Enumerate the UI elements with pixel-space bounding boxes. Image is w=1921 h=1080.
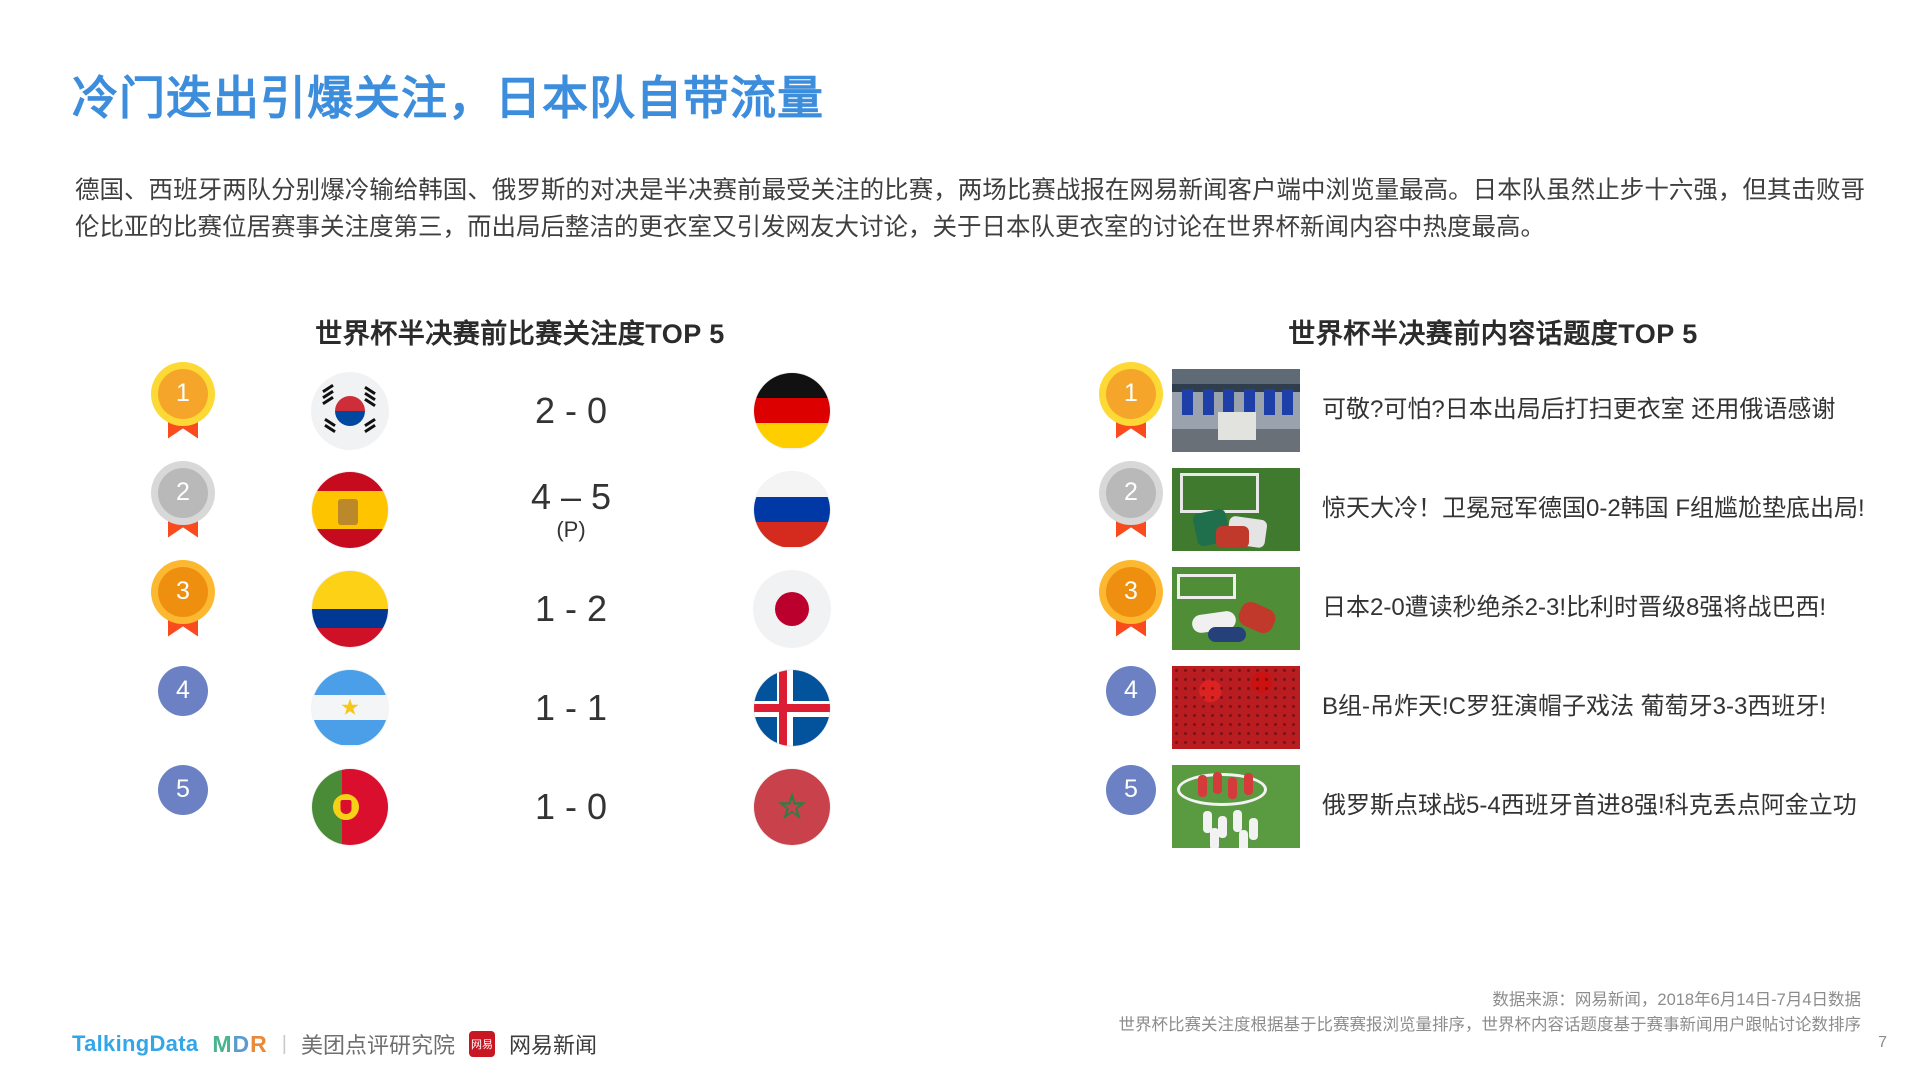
table-row[interactable]: 2 4 – 5 (P) bbox=[150, 460, 890, 559]
match-score: 1 - 0 bbox=[388, 787, 754, 827]
topics-panel-title: 世界杯半决赛前内容话题度TOP 5 bbox=[1098, 312, 1888, 351]
rank-badge-5: 5 bbox=[1098, 765, 1164, 849]
match-score: 2 - 0 bbox=[388, 391, 754, 431]
table-row[interactable]: 5 1 - 0 bbox=[150, 757, 890, 856]
rank-badge-1: 1 bbox=[150, 369, 216, 453]
footer-logos: TalkingData MDR | 美团点评研究院 网易 网易新闻 bbox=[72, 1028, 597, 1060]
rank-number: 3 bbox=[158, 567, 208, 617]
rank-badge-3: 3 bbox=[1098, 567, 1164, 651]
topic-title: 惊天大冷！卫冕冠军德国0-2韩国 F组尴尬垫底出局! bbox=[1322, 492, 1888, 526]
match-score: 4 – 5 (P) bbox=[388, 477, 754, 543]
rank-badge-4: 4 bbox=[150, 666, 216, 750]
mdr-logo: MDR bbox=[212, 1031, 267, 1058]
rank-number: 3 bbox=[1106, 567, 1156, 617]
list-item[interactable]: 1 可敬?可怕?日本出局后打扫更衣室 还用俄语感谢 bbox=[1098, 361, 1888, 460]
flag-icon-ma bbox=[754, 769, 830, 845]
source-note: 数据来源：网易新闻，2018年6月14日-7月4日数据 世界杯比赛关注度根据基于… bbox=[1119, 988, 1862, 1038]
flag-icon-jp bbox=[754, 571, 830, 647]
pentagram-symbol bbox=[777, 792, 807, 822]
thumbnail-image-goalmouth bbox=[1172, 468, 1300, 551]
talkingdata-logo: TalkingData bbox=[72, 1031, 198, 1057]
flag-icon-is bbox=[754, 670, 830, 746]
thumbnail-image-locker-room bbox=[1172, 369, 1300, 452]
rank-badge-5: 5 bbox=[150, 765, 216, 849]
table-row[interactable]: 3 1 - 2 bbox=[150, 559, 890, 658]
rank-badge-3: 3 bbox=[150, 567, 216, 651]
matches-panel: 世界杯半决赛前比赛关注度TOP 5 1 2 - bbox=[150, 312, 890, 856]
match-score: 1 - 2 bbox=[388, 589, 754, 629]
logo-separator: | bbox=[282, 1033, 287, 1056]
rank-badge-4: 4 bbox=[1098, 666, 1164, 750]
taeguk-symbol bbox=[335, 396, 365, 426]
rank-number: 5 bbox=[1106, 765, 1156, 815]
match-score: 1 - 1 bbox=[388, 688, 754, 728]
thumbnail-image-players-turf bbox=[1172, 567, 1300, 650]
netease-badge-icon: 网易 bbox=[469, 1031, 495, 1057]
rank-number: 1 bbox=[158, 369, 208, 419]
topic-title: B组-吊炸天!C罗狂演帽子戏法 葡萄牙3-3西班牙! bbox=[1322, 690, 1888, 724]
netease-news-logo: 网易新闻 bbox=[509, 1028, 597, 1060]
rank-badge-2: 2 bbox=[150, 468, 216, 552]
topics-panel: 世界杯半决赛前内容话题度TOP 5 1 可敬?可怕?日本出局后打扫更衣室 还用俄… bbox=[1098, 312, 1888, 856]
meituan-dianping-logo: 美团点评研究院 bbox=[301, 1028, 455, 1060]
thumbnail-image-celebration bbox=[1172, 765, 1300, 848]
rank-number: 2 bbox=[158, 468, 208, 518]
slide-root: 冷门迭出引爆关注，日本队自带流量 德国、西班牙两队分别爆冷输给韩国、俄罗斯的对决… bbox=[0, 0, 1921, 1080]
list-item[interactable]: 2 惊天大冷！卫冕冠军德国0-2韩国 F组尴尬垫底出局! bbox=[1098, 460, 1888, 559]
hinomaru-symbol bbox=[775, 592, 809, 626]
lede-paragraph: 德国、西班牙两队分别爆冷输给韩国、俄罗斯的对决是半决赛前最受关注的比赛，两场比赛… bbox=[75, 172, 1865, 246]
flag-icon-es bbox=[312, 472, 388, 548]
matches-panel-title: 世界杯半决赛前比赛关注度TOP 5 bbox=[150, 312, 890, 351]
rank-number: 5 bbox=[158, 765, 208, 815]
spain-crest bbox=[338, 499, 358, 525]
flag-icon-de bbox=[754, 373, 830, 449]
flag-icon-ar bbox=[312, 670, 388, 746]
topic-title: 俄罗斯点球战5-4西班牙首进8强!科克丢点阿金立功 bbox=[1322, 789, 1888, 823]
list-item[interactable]: 3 日本2-0遭读秒绝杀2-3!比利时晋级8强将战巴西! bbox=[1098, 559, 1888, 658]
thumbnail-image-red-crowd bbox=[1172, 666, 1300, 749]
rank-number: 1 bbox=[1106, 369, 1156, 419]
topic-title: 可敬?可怕?日本出局后打扫更衣室 还用俄语感谢 bbox=[1322, 393, 1888, 427]
source-line-2: 世界杯比赛关注度根据基于比赛赛报浏览量排序，世界杯内容话题度基于赛事新闻用户跟帖… bbox=[1119, 1013, 1862, 1038]
rank-number: 2 bbox=[1106, 468, 1156, 518]
flag-icon-kr bbox=[312, 373, 388, 449]
rank-number: 4 bbox=[158, 666, 208, 716]
flag-icon-ru bbox=[754, 472, 830, 548]
flag-icon-pt bbox=[312, 769, 388, 845]
rank-badge-1: 1 bbox=[1098, 369, 1164, 453]
topic-title: 日本2-0遭读秒绝杀2-3!比利时晋级8强将战巴西! bbox=[1322, 591, 1888, 625]
penalty-note: (P) bbox=[388, 518, 754, 542]
rank-badge-2: 2 bbox=[1098, 468, 1164, 552]
table-row[interactable]: 4 1 - 1 bbox=[150, 658, 890, 757]
page-title: 冷门迭出引爆关注，日本队自带流量 bbox=[72, 62, 824, 128]
rank-number: 4 bbox=[1106, 666, 1156, 716]
list-item[interactable]: 4 B组-吊炸天!C罗狂演帽子戏法 葡萄牙3-3西班牙! bbox=[1098, 658, 1888, 757]
source-line-1: 数据来源：网易新闻，2018年6月14日-7月4日数据 bbox=[1119, 988, 1862, 1013]
list-item[interactable]: 5 俄罗斯点球战5-4西班牙首进8强!科克丢点阿金立功 bbox=[1098, 757, 1888, 856]
page-number: 7 bbox=[1878, 1034, 1887, 1052]
table-row[interactable]: 1 2 - 0 bbox=[150, 361, 890, 460]
flag-icon-co bbox=[312, 571, 388, 647]
